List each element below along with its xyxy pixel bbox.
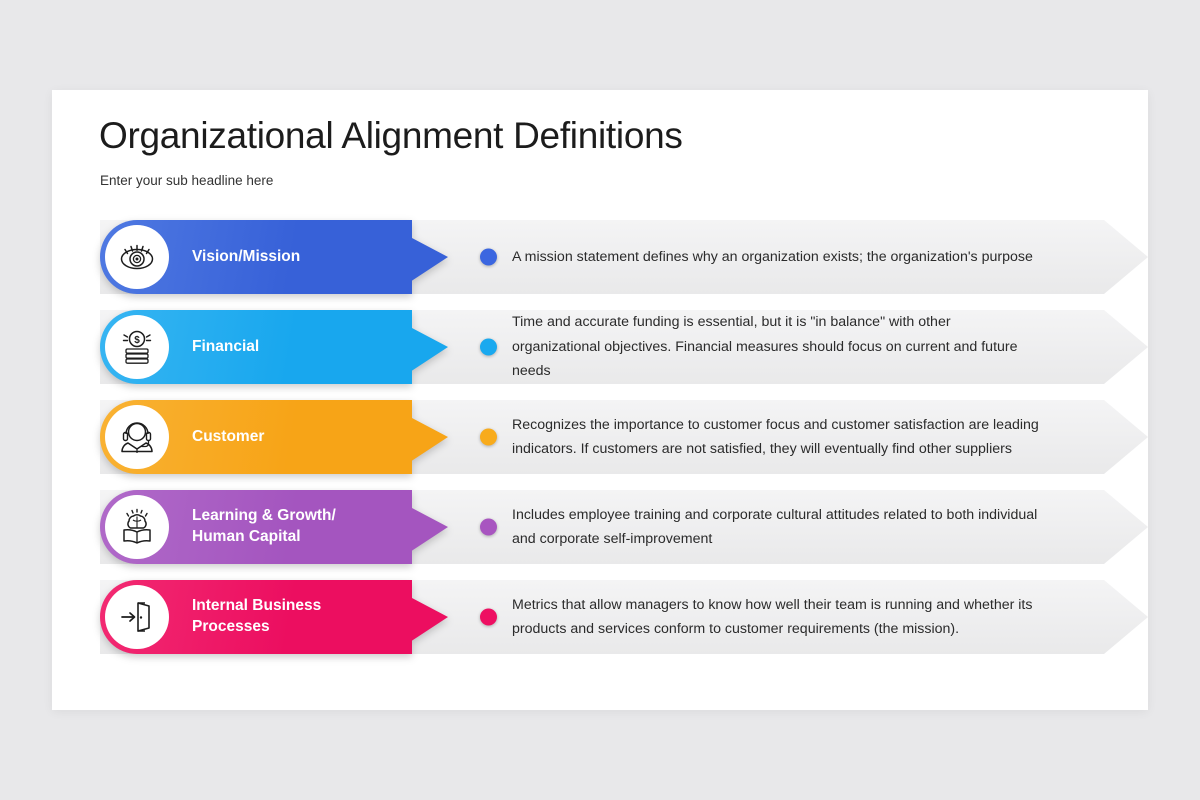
support-agent-icon — [105, 405, 169, 469]
bullet-dot — [480, 609, 497, 626]
definition-text-line: and corporate self-improvement — [512, 527, 1102, 551]
bullet-dot — [480, 339, 497, 356]
category-badge-internal-business-processes[interactable]: Internal BusinessProcesses — [100, 580, 448, 654]
definition-rows: Vision/MissionA mission statement define… — [52, 220, 1148, 670]
eye-icon — [105, 225, 169, 289]
category-badge-learning-growth[interactable]: Learning & Growth/Human Capital — [100, 490, 448, 564]
badge-label: Vision/Mission — [192, 220, 407, 294]
definition-text-line: indicators. If customers are not satisfi… — [512, 437, 1102, 461]
badge-label-line: Financial — [192, 337, 407, 358]
definition-text: Time and accurate funding is essential, … — [512, 310, 1102, 384]
category-badge-vision-mission[interactable]: Vision/Mission — [100, 220, 448, 294]
definition-text-line: A mission statement defines why an organ… — [512, 245, 1102, 269]
enter-door-icon — [105, 585, 169, 649]
definition-row: Learning & Growth/Human CapitalIncludes … — [52, 490, 1148, 564]
coins-dollar-icon — [105, 315, 169, 379]
badge-label: Customer — [192, 400, 407, 474]
definition-row: CustomerRecognizes the importance to cus… — [52, 400, 1148, 474]
slide-card: Organizational Alignment Definitions Ent… — [52, 90, 1148, 710]
badge-label-line: Processes — [192, 617, 407, 638]
bullet-dot — [480, 429, 497, 446]
definition-text-line: needs — [512, 359, 1102, 383]
badge-label-line: Customer — [192, 427, 407, 448]
definition-row: FinancialTime and accurate funding is es… — [52, 310, 1148, 384]
badge-label-line: Human Capital — [192, 527, 407, 548]
badge-label-line: Vision/Mission — [192, 247, 407, 268]
badge-label: Internal BusinessProcesses — [192, 580, 407, 654]
badge-label-line: Learning & Growth/ — [192, 506, 407, 527]
brain-book-icon — [105, 495, 169, 559]
badge-label: Financial — [192, 310, 407, 384]
category-badge-financial[interactable]: Financial — [100, 310, 448, 384]
bullet-dot — [480, 249, 497, 266]
badge-label: Learning & Growth/Human Capital — [192, 490, 407, 564]
definition-text: Metrics that allow managers to know how … — [512, 580, 1102, 654]
page-title: Organizational Alignment Definitions — [99, 115, 683, 157]
definition-text: Recognizes the importance to customer fo… — [512, 400, 1102, 474]
definition-text: Includes employee training and corporate… — [512, 490, 1102, 564]
badge-label-line: Internal Business — [192, 596, 407, 617]
definition-row: Vision/MissionA mission statement define… — [52, 220, 1148, 294]
category-badge-customer[interactable]: Customer — [100, 400, 448, 474]
definition-text-line: Metrics that allow managers to know how … — [512, 593, 1102, 617]
definition-text: A mission statement defines why an organ… — [512, 220, 1102, 294]
definition-row: Internal BusinessProcessesMetrics that a… — [52, 580, 1148, 654]
bullet-dot — [480, 519, 497, 536]
page-subtitle: Enter your sub headline here — [100, 173, 273, 188]
definition-text-line: Includes employee training and corporate… — [512, 503, 1102, 527]
definition-text-line: Time and accurate funding is essential, … — [512, 310, 1102, 334]
definition-text-line: organizational objectives. Financial mea… — [512, 335, 1102, 359]
definition-text-line: products and services conform to custome… — [512, 617, 1102, 641]
definition-text-line: Recognizes the importance to customer fo… — [512, 413, 1102, 437]
